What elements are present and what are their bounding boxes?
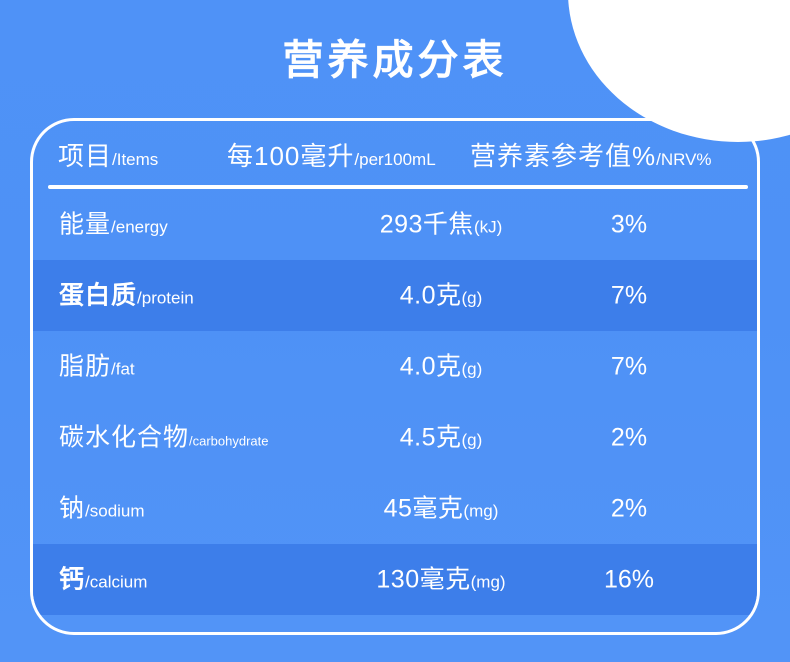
table-row: 蛋白质/protein4.0克(g)7% [33, 260, 757, 331]
row-value-unit: (g) [461, 359, 482, 378]
row-nrv-percent: 2% [611, 494, 647, 522]
row-item-label: 脂肪/fat [59, 354, 135, 379]
row-item-label: 蛋白质/protein [59, 283, 194, 308]
row-value-number: 4.0克 [400, 281, 462, 309]
row-value-unit: (kJ) [474, 217, 502, 236]
row-value-number: 4.5克 [400, 423, 462, 451]
row-nrv-value: 3% [539, 212, 719, 237]
row-value-number: 293千焦 [380, 210, 474, 238]
nutrition-table: 项目/Items 每100毫升/per100mL 营养素参考值%/NRV% 能量… [30, 118, 760, 635]
row-value-number: 45毫克 [384, 494, 464, 522]
row-item-label: 钙/calcium [59, 567, 147, 592]
table-row: 钠/sodium45毫克(mg)2% [33, 473, 757, 544]
row-item-en: /carbohydrate [189, 433, 269, 448]
row-item-cn: 钙 [59, 565, 85, 593]
row-nrv-value: 16% [539, 567, 719, 592]
row-item-cn: 钠 [59, 494, 85, 522]
header-nrv-en: /NRV% [656, 150, 711, 169]
row-nrv-value: 2% [539, 496, 719, 521]
row-value-unit: (mg) [471, 572, 506, 591]
header-cell-per-100ml: 每100毫升/per100mL [227, 143, 436, 169]
table-header-row: 项目/Items 每100毫升/per100mL 营养素参考值%/NRV% [33, 121, 757, 187]
row-item-en: /energy [111, 217, 168, 236]
row-nrv-percent: 2% [611, 423, 647, 451]
row-item-label: 能量/energy [59, 212, 168, 237]
header-cell-nrv: 营养素参考值%/NRV% [470, 143, 712, 169]
header-per-en: /per100mL [354, 150, 435, 169]
row-nrv-percent: 7% [611, 281, 647, 309]
row-value-number: 4.0克 [400, 352, 462, 380]
header-nrv-cn: 营养素参考值% [470, 141, 656, 171]
row-nrv-value: 7% [539, 283, 719, 308]
table-row: 能量/energy293千焦(kJ)3% [33, 189, 757, 260]
table-row: 钙/calcium130毫克(mg)16% [33, 544, 757, 615]
header-item-cn: 项目 [58, 141, 112, 171]
nutrition-panel: 营养成分表 项目/Items 每100毫升/per100mL 营养素参考值%/N… [0, 0, 790, 662]
row-value-unit: (mg) [463, 501, 498, 520]
table-row: 碳水化合物/carbohydrate4.5克(g)2% [33, 402, 757, 473]
row-value-unit: (g) [461, 288, 482, 307]
table-body: 能量/energy293千焦(kJ)3%蛋白质/protein4.0克(g)7%… [33, 189, 757, 615]
row-item-cn: 蛋白质 [59, 281, 137, 309]
row-item-cn: 能量 [59, 210, 111, 238]
header-item-en: /Items [112, 150, 158, 169]
header-cell-item: 项目/Items [58, 143, 158, 169]
row-item-en: /sodium [85, 501, 145, 520]
row-item-cn: 脂肪 [59, 352, 111, 380]
row-item-label: 钠/sodium [59, 496, 145, 521]
table-row: 脂肪/fat4.0克(g)7% [33, 331, 757, 402]
row-item-en: /calcium [85, 572, 147, 591]
row-nrv-value: 2% [539, 425, 719, 450]
row-nrv-percent: 7% [611, 352, 647, 380]
row-item-cn: 碳水化合物 [59, 423, 189, 451]
header-per-cn: 每100毫升 [227, 141, 354, 171]
row-item-en: /protein [137, 288, 194, 307]
page-title: 营养成分表 [0, 38, 790, 83]
row-value-number: 130毫克 [376, 565, 470, 593]
row-value-unit: (g) [461, 430, 482, 449]
row-item-label: 碳水化合物/carbohydrate [59, 425, 269, 450]
row-nrv-percent: 3% [611, 210, 647, 238]
row-nrv-value: 7% [539, 354, 719, 379]
row-nrv-percent: 16% [604, 565, 654, 593]
row-item-en: /fat [111, 359, 135, 378]
